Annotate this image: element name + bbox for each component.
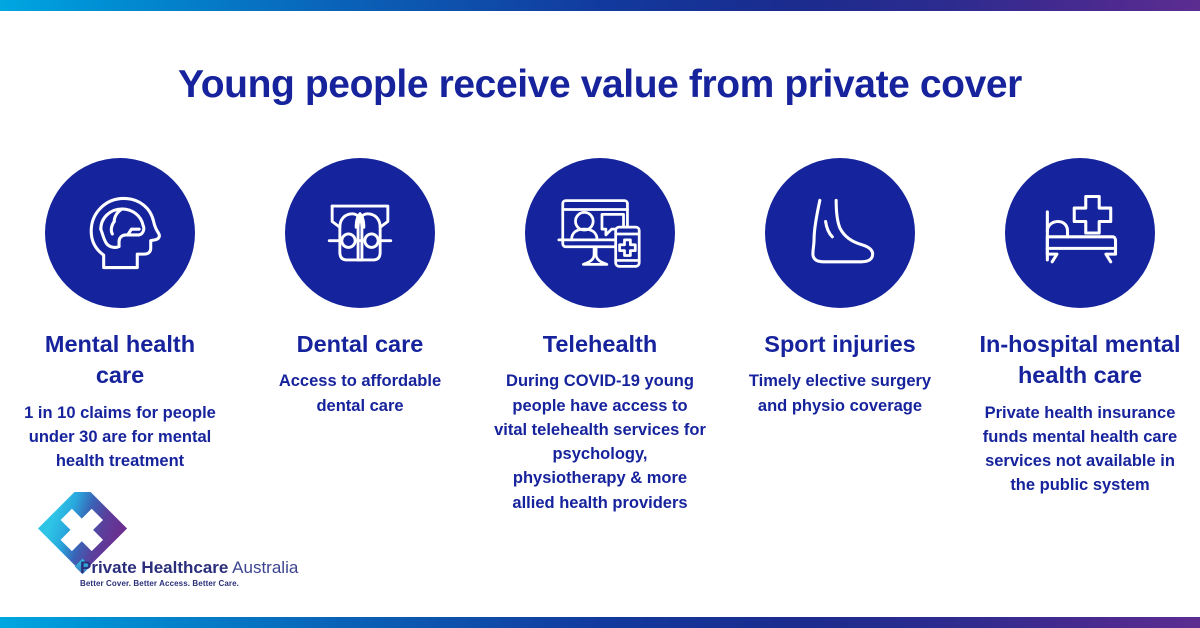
top-gradient-bar bbox=[0, 0, 1200, 11]
logo-name-bold: Private Healthcare bbox=[80, 558, 228, 577]
brand-logo: Private Healthcare Australia Better Cove… bbox=[38, 492, 298, 604]
benefit-body: Access to affordable dental care bbox=[253, 369, 468, 418]
page-title: Young people receive value from private … bbox=[0, 64, 1200, 107]
logo-wordmark: Private Healthcare Australia Better Cove… bbox=[80, 559, 298, 588]
logo-name: Private Healthcare Australia bbox=[80, 559, 298, 576]
teeth-braces-icon bbox=[312, 185, 408, 281]
icon-circle-telehealth bbox=[525, 158, 675, 308]
icon-circle-mental-health bbox=[45, 158, 195, 308]
foot-ankle-icon bbox=[792, 185, 888, 281]
benefit-column-dental: Dental care Access to affordable dental … bbox=[240, 158, 480, 418]
head-brain-icon bbox=[72, 185, 168, 281]
benefit-column-sport-injuries: Sport injuries Timely elective surgery a… bbox=[720, 158, 960, 418]
bottom-gradient-bar bbox=[0, 617, 1200, 628]
benefit-body: 1 in 10 claims for people under 30 are f… bbox=[18, 401, 223, 474]
benefit-column-in-hospital: In-hospital mental health care Private h… bbox=[960, 158, 1200, 498]
benefit-heading: Dental care bbox=[297, 329, 424, 360]
icon-circle-in-hospital bbox=[1005, 158, 1155, 308]
benefit-column-telehealth: Telehealth During COVID-19 young people … bbox=[480, 158, 720, 515]
benefit-heading: Mental health care bbox=[18, 329, 223, 392]
benefit-heading: Telehealth bbox=[543, 329, 657, 360]
benefit-column-mental-health: Mental health care 1 in 10 claims for pe… bbox=[0, 158, 240, 473]
icon-circle-dental bbox=[285, 158, 435, 308]
benefit-body: Timely elective surgery and physio cover… bbox=[733, 369, 948, 418]
hospital-bed-cross-icon bbox=[1032, 185, 1128, 281]
benefits-columns: Mental health care 1 in 10 claims for pe… bbox=[0, 158, 1200, 515]
icon-circle-sport-injuries bbox=[765, 158, 915, 308]
telehealth-monitor-icon bbox=[551, 184, 649, 282]
logo-name-light: Australia bbox=[228, 558, 298, 577]
infographic-canvas: Young people receive value from private … bbox=[0, 0, 1200, 628]
benefit-heading: Sport injuries bbox=[764, 329, 915, 360]
benefit-body: During COVID-19 young people have access… bbox=[494, 369, 706, 515]
logo-tagline: Better Cover. Better Access. Better Care… bbox=[80, 580, 298, 588]
benefit-body: Private health insurance funds mental he… bbox=[971, 401, 1189, 498]
benefit-heading: In-hospital mental health care bbox=[971, 329, 1189, 392]
